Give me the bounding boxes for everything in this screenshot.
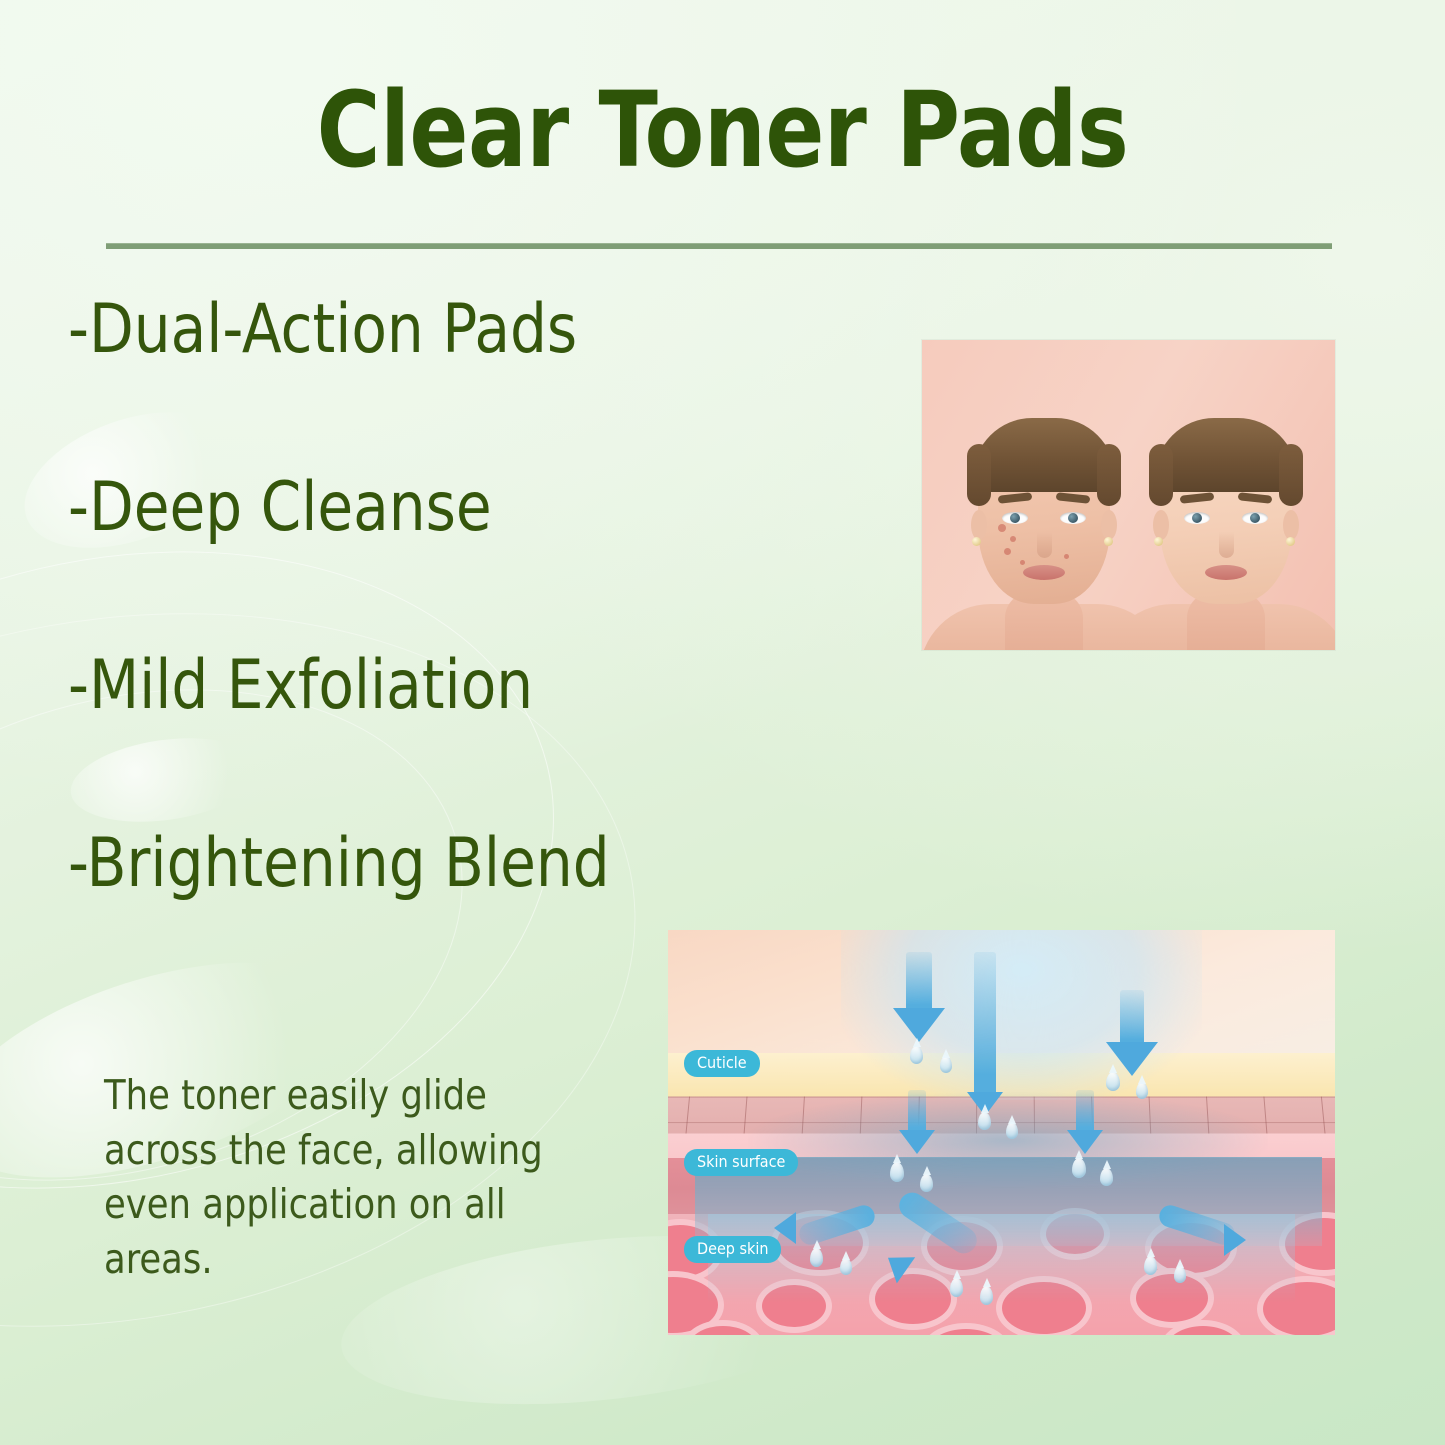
list-item: -Mild Exfoliation: [68, 652, 847, 720]
water-droplet: [1136, 1082, 1148, 1099]
water-droplet: [1006, 1122, 1018, 1139]
face-after: [1118, 350, 1333, 650]
water-droplet: [810, 1248, 823, 1267]
ear-left: [1153, 510, 1169, 540]
fat-cell: [1285, 1218, 1335, 1270]
fat-cell: [1002, 1282, 1086, 1334]
blemish: [1004, 548, 1011, 555]
description-text: The toner easily glide across the face, …: [104, 1068, 603, 1286]
water-droplet: [840, 1258, 852, 1275]
mouth: [1023, 565, 1065, 580]
earring-right: [1286, 537, 1295, 546]
eye-right: [1060, 512, 1086, 524]
water-droplet: [940, 1056, 952, 1073]
water-droplet: [1174, 1266, 1186, 1283]
hair: [1155, 418, 1297, 492]
mouth: [1205, 565, 1247, 580]
title-divider: [106, 243, 1332, 249]
blemish: [1064, 554, 1069, 559]
page-title: Clear Toner Pads: [51, 74, 1395, 186]
water-droplet: [1106, 1072, 1120, 1091]
list-item: -Brightening Blend: [68, 830, 847, 898]
fat-cell: [927, 1329, 1005, 1335]
water-droplet: [978, 1112, 991, 1130]
nose: [1219, 532, 1234, 558]
earring-left: [972, 537, 981, 546]
water-droplet: [1144, 1256, 1157, 1275]
water-droplet: [910, 1046, 923, 1064]
earring-left: [1154, 537, 1163, 546]
fat-cell: [1166, 1326, 1240, 1335]
feature-list: -Dual-Action Pads -Deep Cleanse -Mild Ex…: [68, 296, 888, 1008]
water-droplet: [950, 1278, 963, 1297]
water-droplet: [1100, 1168, 1113, 1186]
water-droplet: [1072, 1158, 1086, 1178]
hair: [973, 418, 1115, 492]
eye-left: [1002, 512, 1028, 524]
skin-layers-diagram: Cuticle Skin surface Deep skin: [668, 930, 1335, 1335]
fat-cell: [762, 1285, 826, 1327]
water-droplet: [980, 1286, 993, 1305]
ear-right: [1283, 510, 1299, 540]
eye-left: [1184, 512, 1210, 524]
fat-cell: [1263, 1282, 1335, 1335]
fat-cell: [1046, 1214, 1104, 1254]
water-droplet: [920, 1174, 933, 1192]
skin-label-deep-skin: Deep skin: [684, 1236, 781, 1263]
blemish: [1020, 560, 1025, 565]
ear-right: [1101, 510, 1117, 540]
skin-label-cuticle: Cuticle: [684, 1050, 760, 1077]
water-droplet: [890, 1162, 904, 1182]
ear-left: [971, 510, 987, 540]
eye-right: [1242, 512, 1268, 524]
fat-cell: [1136, 1274, 1208, 1322]
fat-cell: [668, 1277, 718, 1333]
earring-right: [1104, 537, 1113, 546]
blemish: [998, 524, 1006, 532]
skin-label-skin-surface: Skin surface: [684, 1149, 798, 1176]
before-after-photo: [922, 340, 1335, 650]
nose: [1037, 532, 1052, 558]
list-item: -Deep Cleanse: [68, 474, 847, 542]
blemish: [1010, 536, 1016, 542]
list-item: -Dual-Action Pads: [68, 296, 847, 364]
fat-cell: [875, 1274, 951, 1324]
